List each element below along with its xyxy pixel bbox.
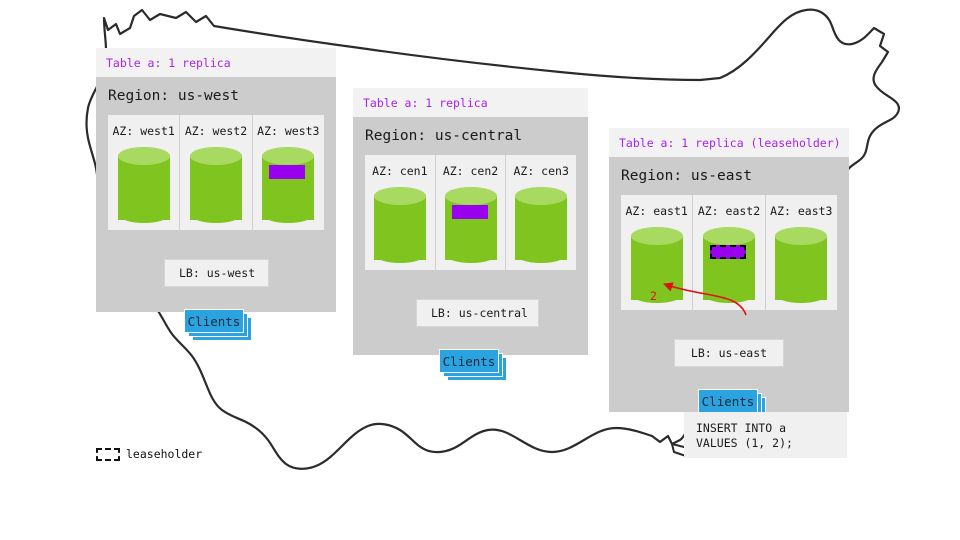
- region-panel-us-central: Table a: 1 replica Region: us-central AZ…: [353, 88, 588, 355]
- cylinder-wrap-east3: [766, 227, 837, 303]
- cylinder-wrap-east2: [693, 227, 764, 303]
- az-label-cen1: AZ: cen1: [365, 164, 435, 178]
- replica-block-cen2: [452, 205, 488, 219]
- region-panel-us-west: Table a: 1 replica Region: us-west AZ: w…: [96, 48, 336, 312]
- az-label-west2: AZ: west2: [180, 124, 251, 138]
- database-cylinder-east2: [703, 227, 755, 303]
- az-cell-west2[interactable]: AZ: west2: [179, 115, 251, 230]
- cylinder-wrap-west3: [253, 147, 324, 223]
- cylinder-wrap-cen1: [365, 187, 435, 263]
- cylinder-wrap-west2: [180, 147, 251, 223]
- database-cylinder-cen1: [374, 187, 426, 263]
- region-header-us-central: Table a: 1 replica: [353, 88, 588, 117]
- database-cylinder-west1: [118, 147, 170, 223]
- az-label-cen3: AZ: cen3: [506, 164, 576, 178]
- replica-block-west3: [269, 165, 305, 179]
- az-cell-cen2[interactable]: AZ: cen2: [435, 155, 506, 270]
- region-title-us-central: Region: us-central: [353, 117, 588, 155]
- region-header-us-east: Table a: 1 replica (leaseholder): [609, 128, 849, 157]
- clients-button-us-west[interactable]: Clients: [184, 309, 252, 341]
- leaseholder-swatch-icon: [96, 448, 120, 461]
- az-label-east2: AZ: east2: [693, 204, 764, 218]
- region-header-us-west: Table a: 1 replica: [96, 48, 336, 77]
- region-body-us-central: Region: us-central AZ: cen1 AZ: cen2: [353, 117, 588, 355]
- az-cell-east2[interactable]: AZ: east2: [692, 195, 764, 310]
- region-title-us-west: Region: us-west: [96, 77, 336, 115]
- arrow-step-label: 2: [650, 289, 657, 303]
- database-cylinder-cen2: [445, 187, 497, 263]
- clients-label-us-east: Clients: [698, 389, 758, 413]
- az-label-west1: AZ: west1: [108, 124, 179, 138]
- load-balancer-us-east[interactable]: LB: us-east: [674, 339, 784, 367]
- az-label-west3: AZ: west3: [253, 124, 324, 138]
- region-title-us-east: Region: us-east: [609, 157, 849, 195]
- clients-label-us-west: Clients: [184, 309, 244, 333]
- load-balancer-us-west[interactable]: LB: us-west: [164, 259, 269, 287]
- cylinder-wrap-cen2: [436, 187, 506, 263]
- az-container-us-west: AZ: west1 AZ: west2: [108, 115, 324, 230]
- region-panel-us-east: Table a: 1 replica (leaseholder) Region:…: [609, 128, 849, 412]
- clients-button-us-central[interactable]: Clients: [439, 349, 507, 381]
- region-body-us-west: Region: us-west AZ: west1 AZ: west2: [96, 77, 336, 312]
- database-cylinder-west2: [190, 147, 242, 223]
- sql-statement-box: INSERT INTO a VALUES (1, 2);: [684, 412, 847, 458]
- database-cylinder-east3: [775, 227, 827, 303]
- database-cylinder-cen3: [515, 187, 567, 263]
- legend: leaseholder: [96, 447, 202, 461]
- az-label-cen2: AZ: cen2: [436, 164, 506, 178]
- load-balancer-us-central[interactable]: LB: us-central: [416, 299, 539, 327]
- cylinder-wrap-west1: [108, 147, 179, 223]
- legend-label-leaseholder: leaseholder: [126, 447, 202, 461]
- diagram-canvas: Table a: 1 replica Region: us-west AZ: w…: [0, 0, 960, 540]
- database-cylinder-west3: [262, 147, 314, 223]
- az-cell-west3[interactable]: AZ: west3: [252, 115, 324, 230]
- replica-block-leaseholder-east2: [710, 245, 746, 259]
- az-label-east1: AZ: east1: [621, 204, 692, 218]
- az-container-us-central: AZ: cen1 AZ: cen2: [365, 155, 576, 270]
- az-cell-cen3[interactable]: AZ: cen3: [505, 155, 576, 270]
- az-cell-cen1[interactable]: AZ: cen1: [365, 155, 435, 270]
- region-body-us-east: Region: us-east AZ: east1 AZ: east2: [609, 157, 849, 412]
- cylinder-wrap-cen3: [506, 187, 576, 263]
- clients-label-us-central: Clients: [439, 349, 499, 373]
- az-cell-east3[interactable]: AZ: east3: [765, 195, 837, 310]
- az-label-east3: AZ: east3: [766, 204, 837, 218]
- az-cell-west1[interactable]: AZ: west1: [108, 115, 179, 230]
